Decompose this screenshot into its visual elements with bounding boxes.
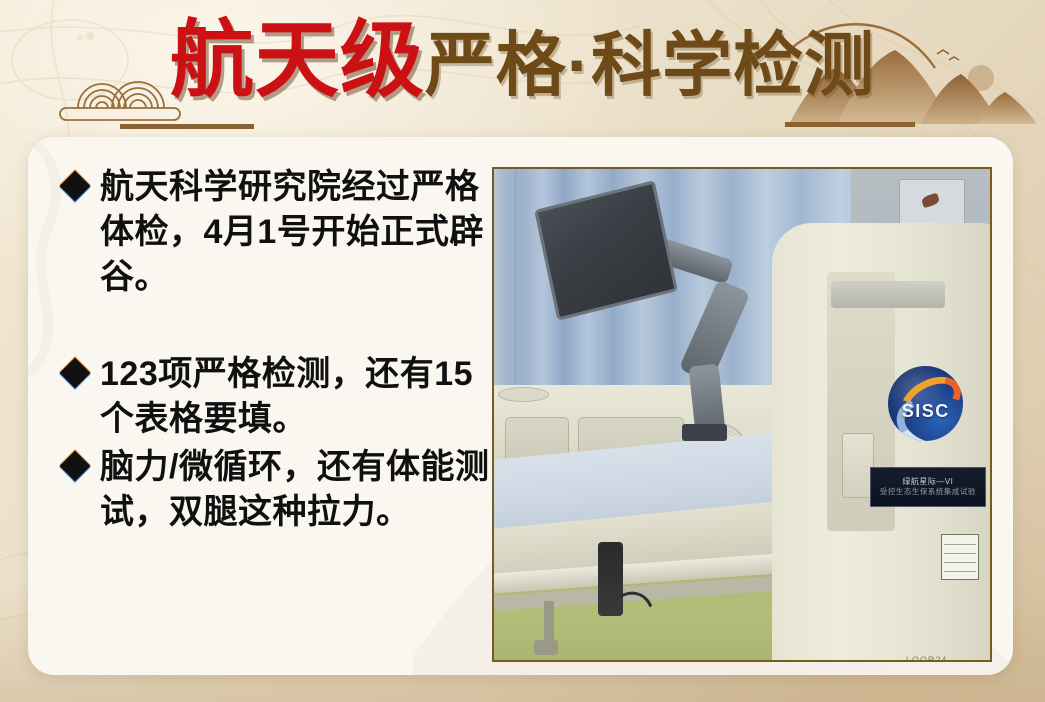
slide-root: 航天级严格·科学检测 航天科学研究院经过严格体检，4月1号开始正式辟谷。 123 — [0, 0, 1045, 702]
bullet-list: 航天科学研究院经过严格体检，4月1号开始正式辟谷。 123项严格检测，还有15个… — [64, 165, 494, 535]
device-bottom-text: LOOR24 — [906, 655, 948, 660]
sisc-test-chamber: SISC 绿航星际—VI 受控生态生保系统集成试验 LOOR24 — [772, 223, 990, 660]
device-nameplate: 绿航星际—VI 受控生态生保系统集成试验 — [870, 467, 986, 507]
list-item: 航天科学研究院经过严格体检，4月1号开始正式辟谷。 — [64, 165, 494, 300]
diamond-bullet-icon — [59, 170, 90, 201]
bed-caster — [534, 640, 559, 655]
sisc-logo: SISC — [888, 366, 963, 441]
list-item-label: 航天科学研究院经过严格体检，4月1号开始正式辟谷。 — [100, 165, 494, 300]
device-info-sticker — [941, 534, 980, 581]
list-item: 123项严格检测，还有15个表格要填。 — [64, 352, 494, 442]
diamond-bullet-icon — [59, 451, 90, 482]
device-nameplate-line2: 受控生态生保系统集成试验 — [880, 487, 976, 496]
list-item: 脑力/微循环，还有体能测试，双腿这种拉力。 — [64, 445, 494, 535]
monitor-arm-base — [682, 424, 727, 441]
diamond-bullet-icon — [59, 357, 90, 388]
device-nameplate-line1: 绿航星际—VI — [902, 477, 953, 487]
page-title-highlight: 航天级 — [170, 13, 425, 107]
list-item-label: 脑力/微循环，还有体能测试，双腿这种拉力。 — [100, 445, 494, 535]
headboard-tray — [498, 387, 549, 402]
chamber-hood — [831, 281, 945, 308]
hospital-room-photo: SISC 绿航星际—VI 受控生态生保系统集成试验 LOOR24 — [494, 169, 990, 660]
sisc-logo-text: SISC — [888, 401, 963, 422]
page-title: 航天级严格·科学检测 — [0, 18, 1045, 102]
content-card: 航天科学研究院经过严格体检，4月1号开始正式辟谷。 123项严格检测，还有15个… — [28, 137, 1013, 675]
page-title-subtext: 严格·科学检测 — [425, 26, 875, 104]
photo-frame: SISC 绿航星际—VI 受控生态生保系统集成试验 LOOR24 — [492, 167, 992, 662]
header: 航天级严格·科学检测 — [0, 0, 1045, 137]
list-item-label: 123项严格检测，还有15个表格要填。 — [100, 352, 494, 442]
